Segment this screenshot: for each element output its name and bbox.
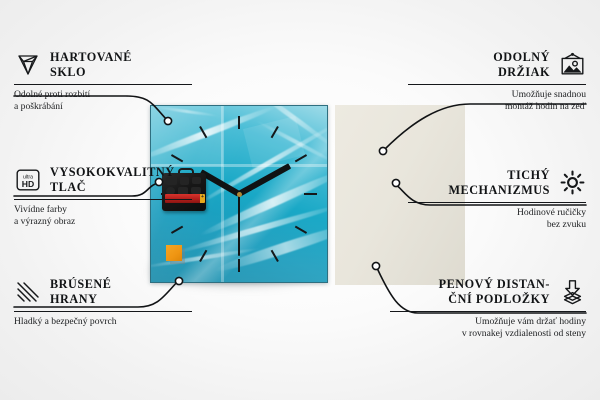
battery-plus-symbol: + [201,196,204,199]
feature-title: HARTOVANÉ SKLO [50,50,132,79]
feature-tempered-glass: HARTOVANÉ SKLO Odolné proti rozbití a po… [14,50,192,112]
foam-spacer-pad [166,245,185,264]
feature-durable-hanger: ODOLNÝ DRŽIAK Umožňuje snadnou montáž ho… [408,50,586,112]
picture-frame-hanger-icon [559,51,586,78]
feature-divider [390,311,586,312]
feature-header: HARTOVANÉ SKLO [14,50,192,79]
feature-header: ultra HD VYSOKOKVALITNÝ TLAČ [14,165,192,194]
clock-second-hand [238,194,240,256]
feature-header: BRÚSENÉ HRANY [14,277,192,306]
feature-divider [14,311,192,312]
diagonal-lines-icon [14,278,41,305]
feature-description: Hodinové ručičky bez zvuku [408,207,586,230]
feature-description: Umožňuje snadnou montáž hodin na zeď [408,89,586,112]
feature-header: ODOLNÝ DRŽIAK [408,50,586,79]
feature-silent-mechanism: TICHÝ MECHANIZMUS Hodinové ručičky bez z… [408,168,586,230]
ultra-hd-icon: ultra HD [14,166,41,193]
feature-ground-edges: BRÚSENÉ HRANY Hladký a bezpečný povrch [14,277,192,328]
gear-icon [559,169,586,196]
feature-description: Vivídne farby a výrazný obraz [14,204,192,227]
clock-tick [295,226,307,234]
feature-title: TICHÝ MECHANIZMUS [448,168,550,197]
feature-description: Hladký a bezpečný povrch [14,316,192,328]
feature-foam-spacers: PENOVÝ DISTAN- ČNÍ PODLOŽKY Umožňuje vám… [390,277,586,339]
feature-title: VYSOKOKVALITNÝ TLAČ [50,165,175,194]
feature-high-quality-print: ultra HD VYSOKOKVALITNÝ TLAČ Vivídne far… [14,165,192,227]
feature-title: BRÚSENÉ HRANY [50,277,111,306]
infographic-canvas: + [0,0,600,400]
feature-header: TICHÝ MECHANIZMUS [408,168,586,197]
feature-divider [14,199,192,200]
feature-divider [408,84,586,85]
feature-description: Umožňuje vám držať hodiny v rovnakej vzd… [390,316,586,339]
feature-header: PENOVÝ DISTAN- ČNÍ PODLOŽKY [390,277,586,306]
diamond-icon [14,51,41,78]
clock-tick [238,259,240,272]
feature-description: Odolné proti rozbití a poškrábání [14,89,192,112]
feature-divider [14,84,192,85]
clock-center-cap [237,192,242,197]
feature-title: PENOVÝ DISTAN- ČNÍ PODLOŽKY [439,277,550,306]
clock-tick [304,193,317,195]
foam-pad-square [166,245,182,261]
clock-tick [238,116,240,129]
feature-divider [408,202,586,203]
feature-title: ODOLNÝ DRŽIAK [493,50,550,79]
svg-text:HD: HD [21,179,33,189]
stacked-down-arrow-icon [559,278,586,305]
